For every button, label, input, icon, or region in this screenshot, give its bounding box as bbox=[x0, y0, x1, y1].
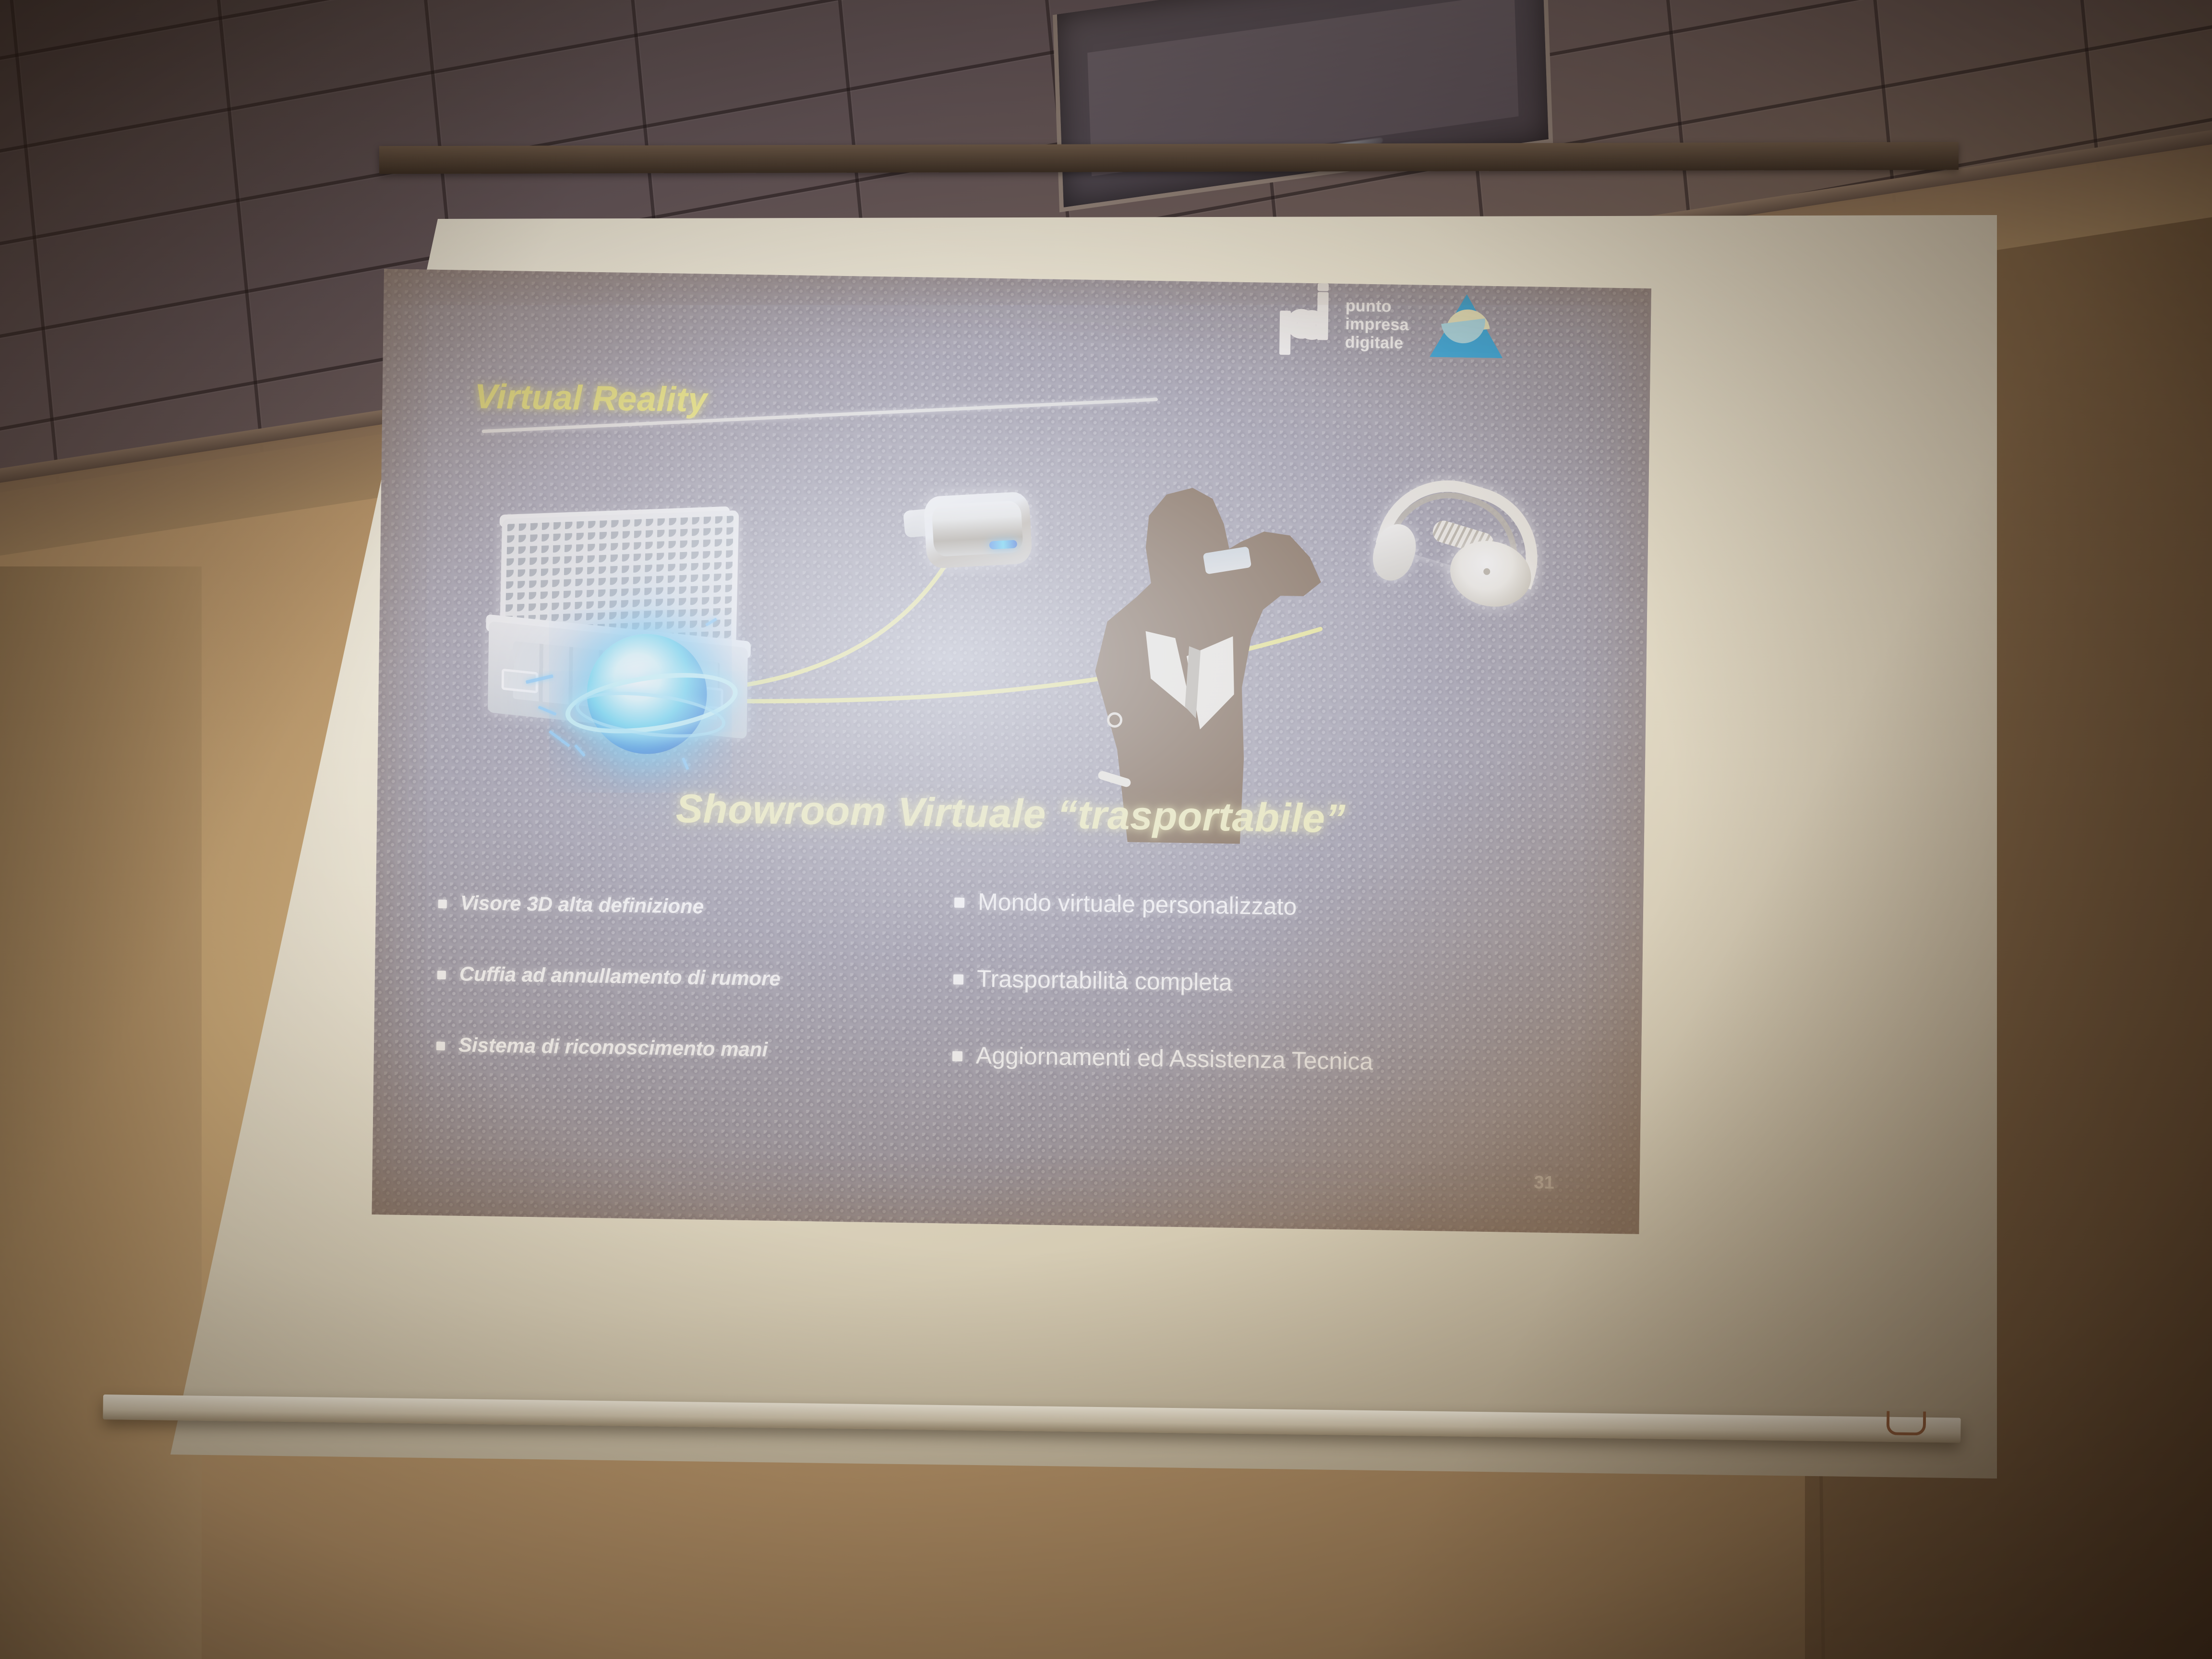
screen-roller-housing bbox=[379, 142, 1959, 174]
room-wall-left bbox=[0, 566, 202, 1659]
photo-scene: punto impresa digitale Virtual Reality bbox=[0, 0, 2212, 1659]
projection-tint-overlay bbox=[372, 269, 1651, 1234]
projected-slide: punto impresa digitale Virtual Reality bbox=[372, 269, 1651, 1234]
screen-pull-handle[interactable] bbox=[1887, 1411, 1926, 1436]
